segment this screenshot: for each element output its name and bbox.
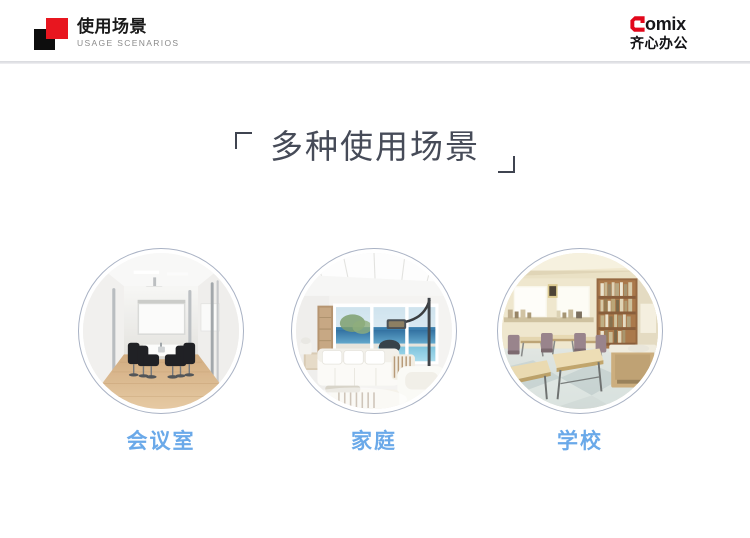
logo-red-square [46, 18, 68, 39]
classroom-photo [502, 253, 658, 409]
square-logo-icon [34, 18, 70, 50]
scenario-card-label: 家庭 [291, 428, 457, 455]
header-title-cn: 使用场景 [77, 16, 179, 37]
bracket-open-icon [235, 132, 252, 149]
scenario-card-label: 学校 [497, 428, 663, 455]
corporate-logo: omix 齐心办公 [630, 15, 730, 52]
conference-room-photo [83, 253, 239, 409]
page-header: 使用场景 USAGE SCENARIOS omix 齐心办公 [0, 0, 750, 62]
corporate-logo-subtext: 齐心办公 [630, 35, 730, 52]
photo-ring [291, 248, 457, 414]
comix-c-icon [630, 16, 645, 32]
main-title-row: 多种使用场景 [0, 126, 750, 173]
bracket-close-icon [498, 156, 515, 173]
photo-ring [497, 248, 663, 414]
scenario-card-label: 会议室 [78, 428, 244, 455]
header-title-block: 使用场景 USAGE SCENARIOS [77, 16, 179, 49]
corporate-logo-wordmark: omix [645, 15, 686, 34]
page-title: 多种使用场景 [270, 126, 480, 168]
scenario-card[interactable]: 家庭 [291, 248, 457, 455]
photo-ring [78, 248, 244, 414]
living-room-photo [296, 253, 452, 409]
header-title-en: USAGE SCENARIOS [77, 38, 179, 49]
corporate-logo-wordmark-row: omix [630, 15, 730, 34]
scenario-card[interactable]: 学校 [497, 248, 663, 455]
scenario-card-list: 会议室 [0, 248, 750, 478]
scenario-card[interactable]: 会议室 [78, 248, 244, 455]
header-divider [0, 61, 750, 64]
